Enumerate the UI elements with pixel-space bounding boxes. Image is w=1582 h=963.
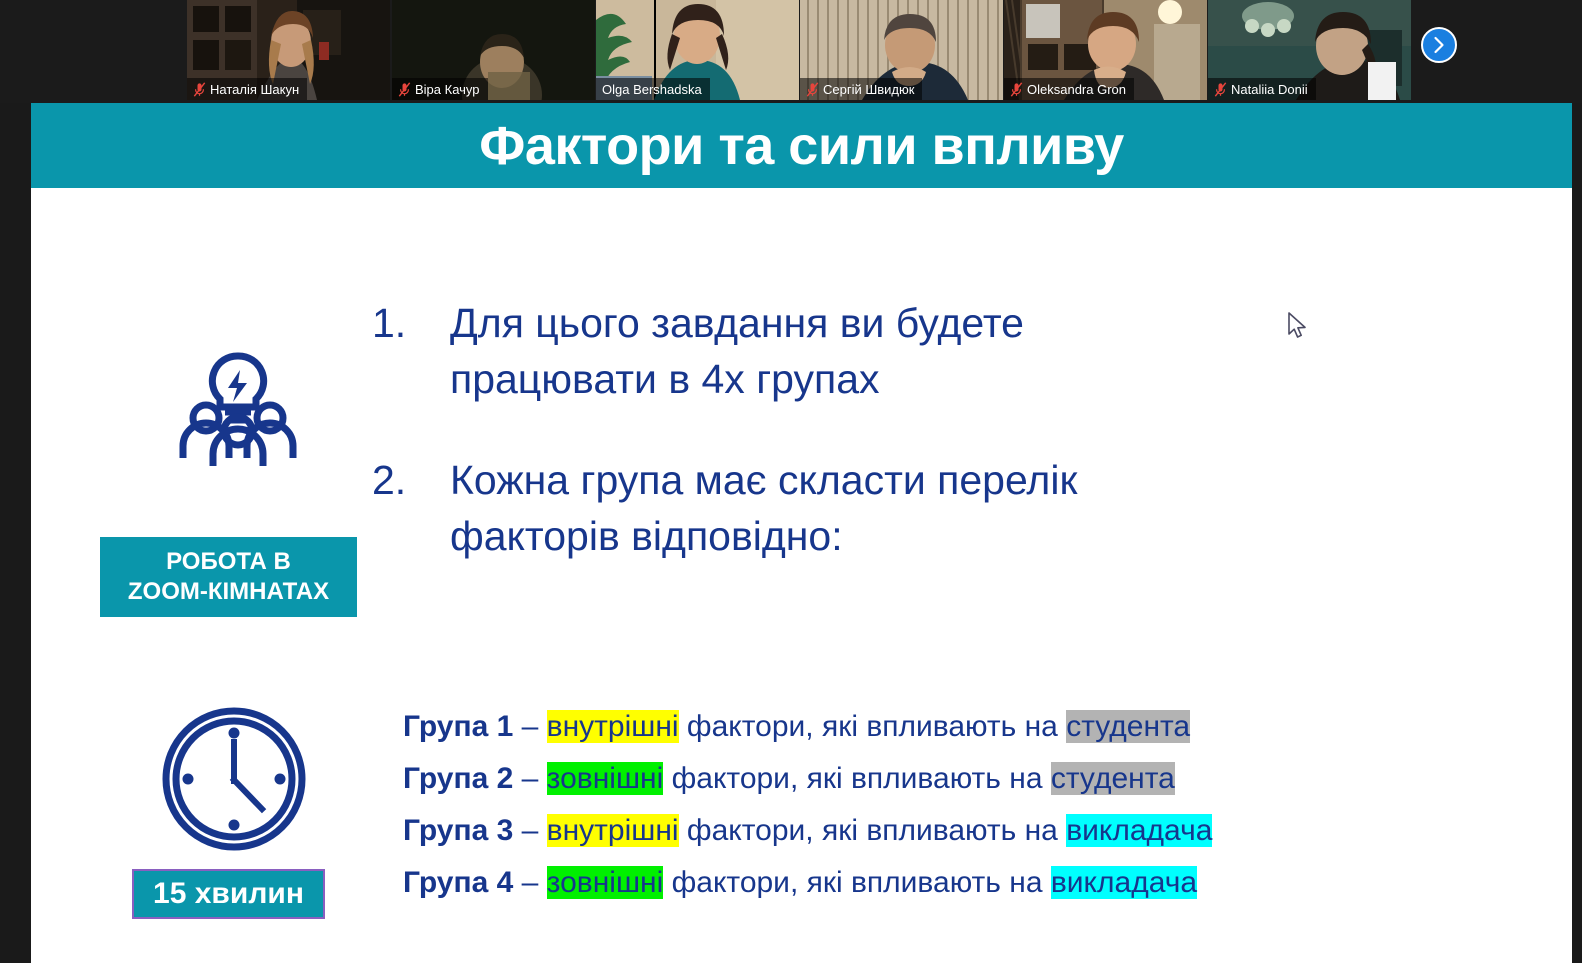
group-middle-text: фактори, які впливають на xyxy=(663,866,1051,899)
duration-badge-label: 15 хвилин xyxy=(153,877,304,911)
mouse-pointer-icon xyxy=(1287,312,1309,342)
participant-tile-active-speaker[interactable]: Olga Bershadska xyxy=(596,0,799,100)
participant-tile[interactable]: Сергій Швидюк xyxy=(800,0,1003,100)
list-marker: 1. xyxy=(372,295,450,407)
microphone-muted-icon xyxy=(1214,82,1227,97)
list-marker: 2. xyxy=(372,452,450,564)
participant-name: Oleksandra Gron xyxy=(1027,83,1126,96)
slide-title-bar: Фактори та сили впливу xyxy=(31,103,1572,188)
slide-list-item-2: 2. Кожна група має скласти перелік факто… xyxy=(372,452,1150,564)
participant-namebar: Oleksandra Gron xyxy=(1004,78,1134,100)
group-line: Група 3 – внутрішні фактори, які впливаю… xyxy=(403,805,1212,857)
participant-namebar: Сергій Швидюк xyxy=(800,78,922,100)
group-label: Група 3 xyxy=(403,814,513,847)
group-dash: – xyxy=(513,866,546,899)
participant-name: Nataliia Donii xyxy=(1231,83,1308,96)
slide-title: Фактори та сили впливу xyxy=(479,115,1123,177)
group-dash: – xyxy=(513,814,546,847)
list-text: Кожна група має скласти перелік факторів… xyxy=(450,452,1150,564)
shared-slide: Фактори та сили впливу РОБОТА В ZOOM-КІМ… xyxy=(31,103,1572,963)
group-target: викладача xyxy=(1051,866,1197,899)
next-participants-page-button[interactable] xyxy=(1421,27,1457,63)
group-factor-kind: зовнішні xyxy=(547,866,664,899)
group-label: Група 2 xyxy=(403,762,513,795)
microphone-muted-icon xyxy=(1010,82,1023,97)
group-factor-kind: зовнішні xyxy=(547,762,664,795)
zoom-rooms-badge-line1: РОБОТА В xyxy=(166,547,291,577)
clock-icon xyxy=(161,706,307,852)
participant-tile[interactable]: Наталія Шакун xyxy=(187,0,390,100)
group-line: Група 2 – зовнішні фактори, які впливают… xyxy=(403,753,1212,805)
group-assignment-list: Група 1 – внутрішні фактори, які впливаю… xyxy=(403,701,1212,909)
participant-namebar: Olga Bershadska xyxy=(596,78,710,100)
group-middle-text: фактори, які впливають на xyxy=(663,762,1051,795)
microphone-muted-icon xyxy=(806,82,819,97)
participant-tile[interactable]: Nataliia Donii xyxy=(1208,0,1411,100)
participant-name: Наталія Шакун xyxy=(210,83,299,96)
team-lightbulb-icon xyxy=(168,346,308,466)
zoom-rooms-badge-line2: ZOOM-КІМНАТАХ xyxy=(128,577,329,607)
group-factor-kind: внутрішні xyxy=(547,814,679,847)
group-target: студента xyxy=(1051,762,1175,795)
participant-namebar: Віра Качур xyxy=(392,78,488,100)
group-line: Група 4 – зовнішні фактори, які впливают… xyxy=(403,857,1212,909)
chevron-right-icon xyxy=(1432,36,1446,54)
group-line: Група 1 – внутрішні фактори, які впливаю… xyxy=(403,701,1212,753)
list-text: Для цього завдання ви будете працювати в… xyxy=(450,295,1150,407)
participant-tile[interactable]: Oleksandra Gron xyxy=(1004,0,1207,100)
participant-name: Olga Bershadska xyxy=(602,83,702,96)
zoom-participant-filmstrip: Наталія Шакун Віра Качур xyxy=(0,0,1582,103)
participant-name: Сергій Швидюк xyxy=(823,83,914,96)
group-label: Група 4 xyxy=(403,866,513,899)
participant-tile[interactable]: Віра Качур xyxy=(392,0,595,100)
group-middle-text: фактори, які впливають на xyxy=(679,710,1067,743)
participant-namebar: Nataliia Donii xyxy=(1208,78,1316,100)
group-middle-text: фактори, які впливають на xyxy=(679,814,1067,847)
group-dash: – xyxy=(513,710,546,743)
group-label: Група 1 xyxy=(403,710,513,743)
group-target: студента xyxy=(1066,710,1190,743)
microphone-muted-icon xyxy=(193,82,206,97)
microphone-muted-icon xyxy=(398,82,411,97)
participant-namebar: Наталія Шакун xyxy=(187,78,307,100)
duration-badge: 15 хвилин xyxy=(132,869,325,919)
group-dash: – xyxy=(513,762,546,795)
slide-list-item-1: 1. Для цього завдання ви будете працюват… xyxy=(372,295,1150,407)
group-target: викладача xyxy=(1066,814,1212,847)
zoom-rooms-badge: РОБОТА В ZOOM-КІМНАТАХ xyxy=(100,537,357,617)
participant-name: Віра Качур xyxy=(415,83,480,96)
group-factor-kind: внутрішні xyxy=(547,710,679,743)
